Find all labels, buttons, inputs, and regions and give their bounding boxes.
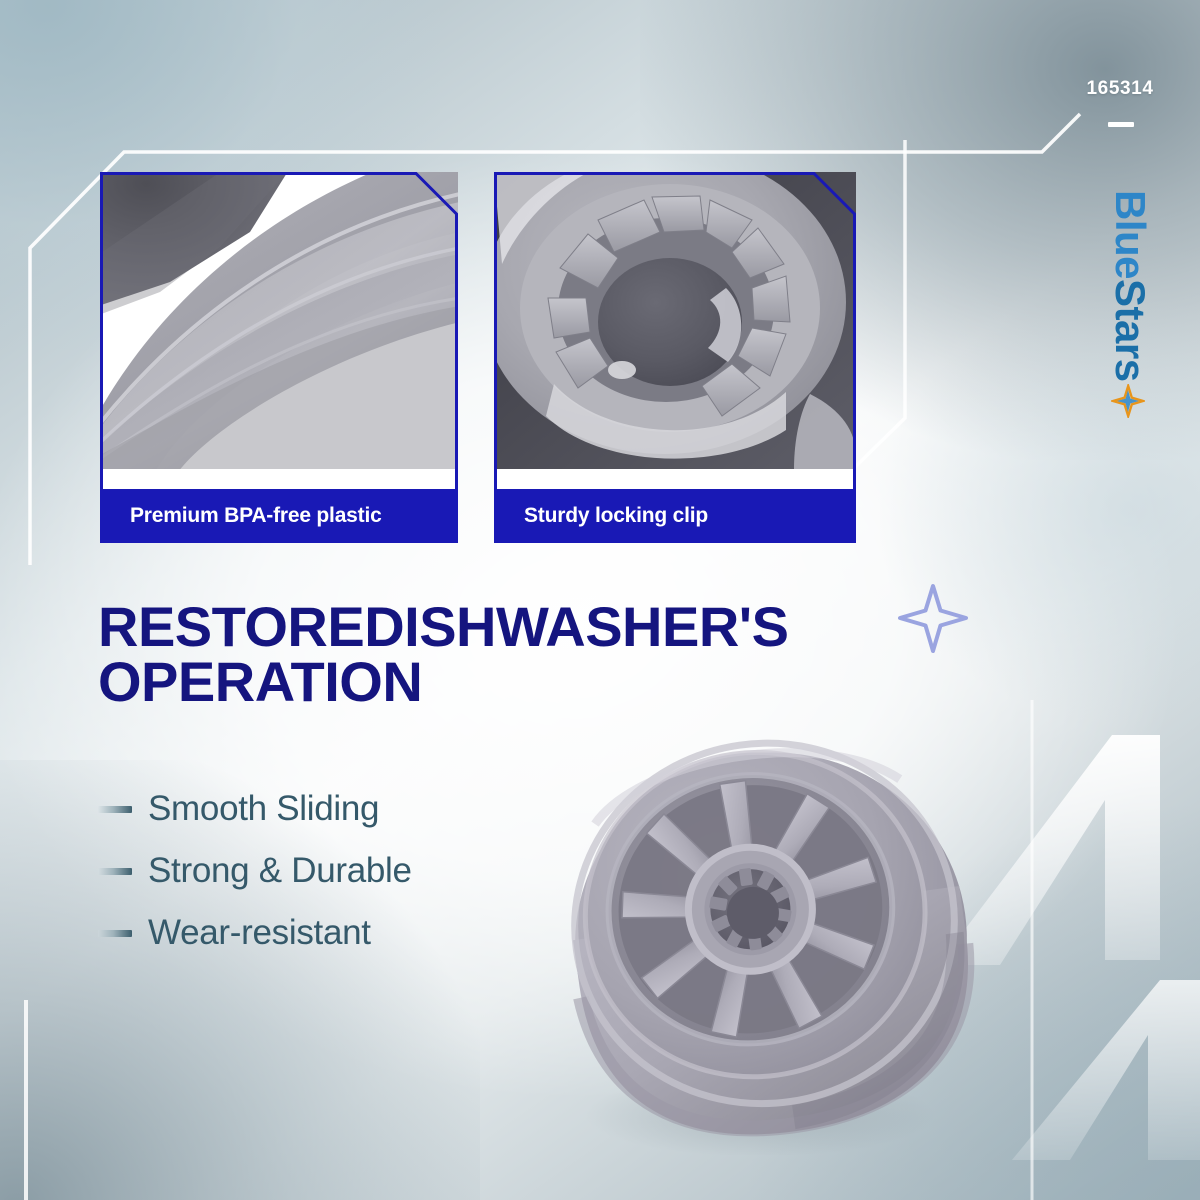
brand-star-icon (1104, 384, 1146, 418)
headline-line-2: OPERATION (98, 655, 938, 710)
feature-panel-2: Sturdy locking clip (494, 172, 856, 543)
benefit-list: Smooth Sliding Strong & Durable Wear-res… (98, 778, 412, 964)
feature-panel-1-caption: Premium BPA-free plastic (100, 489, 458, 543)
dash-bullet-icon (98, 930, 132, 937)
sku-divider-dash (1108, 122, 1134, 127)
product-sku: 165314 (1060, 78, 1180, 100)
list-item: Wear-resistant (98, 902, 412, 964)
list-item: Strong & Durable (98, 840, 412, 902)
brand-logo: BlueStars (1070, 190, 1190, 510)
headline-line-1: RESTOREDISHWASHER'S (98, 600, 938, 655)
product-infographic: Premium BPA-free plastic (0, 0, 1200, 1200)
benefit-label: Wear-resistant (148, 913, 371, 953)
feature-panel-2-caption: Sturdy locking clip (494, 489, 856, 543)
page-title: RESTOREDISHWASHER'S OPERATION (98, 600, 938, 710)
brand-logo-blue: Blue (1107, 190, 1154, 279)
list-item: Smooth Sliding (98, 778, 412, 840)
benefit-label: Smooth Sliding (148, 789, 379, 829)
brand-logo-stars: Stars (1107, 279, 1154, 382)
hero-product-image (545, 705, 975, 1155)
benefit-label: Strong & Durable (148, 851, 412, 891)
dash-bullet-icon (98, 806, 132, 813)
dash-bullet-icon (98, 868, 132, 875)
feature-panel-1: Premium BPA-free plastic (100, 172, 458, 543)
feature-panel-2-photo (494, 172, 856, 469)
feature-panel-1-photo (100, 172, 458, 469)
